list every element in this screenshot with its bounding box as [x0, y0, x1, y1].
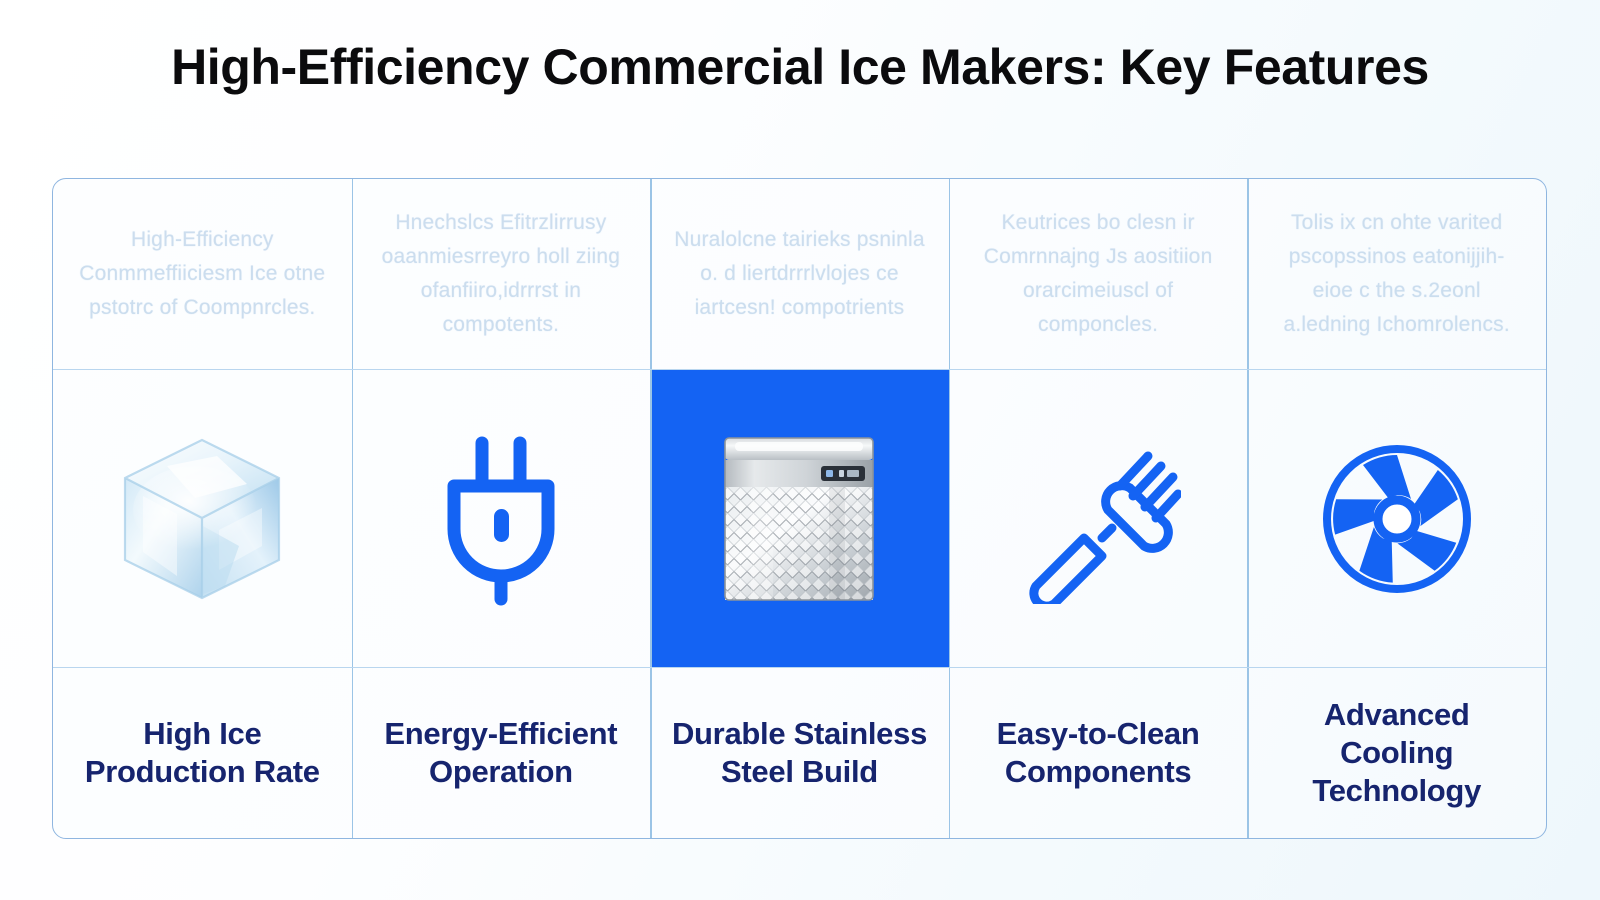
- description-text: Nuralolcne tairieks psninla o. d liertdr…: [672, 223, 927, 325]
- description-cell-3: Nuralolcne tairieks psninla o. d liertdr…: [650, 179, 949, 369]
- icon-cell-ice-cube[interactable]: [53, 370, 352, 667]
- label-cell-5: Advanced Cooling Technology: [1247, 668, 1546, 838]
- icon-cell-cooling-fan[interactable]: [1247, 370, 1546, 667]
- label-cell-4: Easy-to-Clean Components: [949, 668, 1248, 838]
- page-title: High-Efficiency Commercial Ice Makers: K…: [0, 38, 1600, 96]
- description-text: Keutrices bo clesn ir Comrnnajng Js aosi…: [971, 206, 1226, 342]
- label-cell-3: Durable Stainless Steel Build: [650, 668, 949, 838]
- label-row: High Ice Production Rate Energy-Efficien…: [53, 668, 1546, 838]
- feature-label: High Ice Production Rate: [69, 715, 336, 791]
- label-cell-1: High Ice Production Rate: [53, 668, 352, 838]
- description-text: High-Efficiency Conmmeffiiciesm Ice otne…: [75, 223, 330, 325]
- feature-label: Durable Stainless Steel Build: [666, 715, 933, 791]
- icon-cell-ice-machine[interactable]: [650, 370, 949, 667]
- description-text: Tolis ix cn ohte varited pscopssinos eat…: [1269, 206, 1524, 342]
- feature-label: Advanced Cooling Technology: [1263, 696, 1530, 809]
- icon-cell-cleaning-brush[interactable]: [949, 370, 1248, 667]
- cooling-fan-icon: [1247, 370, 1546, 667]
- cleaning-brush-icon: [949, 370, 1248, 667]
- description-cell-2: Hnechslcs Efitrzlirrusy oaanmiesrreyro h…: [352, 179, 651, 369]
- ice-machine-icon: [650, 370, 949, 667]
- description-text: Hnechslcs Efitrzlirrusy oaanmiesrreyro h…: [373, 206, 628, 342]
- icon-cell-power-plug[interactable]: [352, 370, 651, 667]
- description-row: High-Efficiency Conmmeffiiciesm Ice otne…: [53, 179, 1546, 370]
- description-cell-1: High-Efficiency Conmmeffiiciesm Ice otne…: [53, 179, 352, 369]
- description-cell-4: Keutrices bo clesn ir Comrnnajng Js aosi…: [949, 179, 1248, 369]
- label-cell-2: Energy-Efficient Operation: [352, 668, 651, 838]
- feature-label: Easy-to-Clean Components: [965, 715, 1232, 791]
- description-cell-5: Tolis ix cn ohte varited pscopssinos eat…: [1247, 179, 1546, 369]
- ice-cube-icon: [53, 370, 352, 667]
- feature-label: Energy-Efficient Operation: [368, 715, 635, 791]
- features-grid: High-Efficiency Conmmeffiiciesm Ice otne…: [52, 178, 1547, 839]
- power-plug-icon: [352, 370, 651, 667]
- icon-row: [53, 370, 1546, 668]
